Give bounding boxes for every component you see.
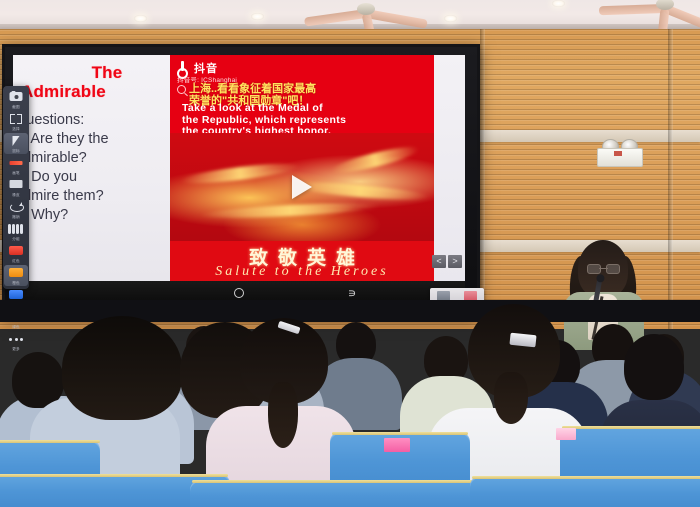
gold-streak <box>330 142 421 177</box>
pen-icon <box>10 161 23 165</box>
audience-area <box>0 300 700 507</box>
toolbar-label: 选择 <box>4 127 28 132</box>
toolbar-label: 撤销 <box>4 215 28 220</box>
camera-icon <box>10 92 23 101</box>
slide-right-margin <box>434 55 465 281</box>
orange-swatch-icon <box>9 268 23 277</box>
fan-blade <box>599 4 665 15</box>
toolbar-label: 分组 <box>4 237 28 242</box>
student-head <box>62 316 182 420</box>
questions-heading: Questions: <box>15 111 171 130</box>
ceiling-fan <box>296 0 436 26</box>
presentation-slide[interactable]: The Admirable Questions: 1, Are they the… <box>13 55 170 281</box>
toolbar-label: 橡皮 <box>4 193 28 198</box>
toolbar-item-eraser[interactable]: 橡皮 <box>4 177 28 198</box>
search-icon <box>177 85 186 94</box>
blue-swatch-icon <box>9 290 23 299</box>
smart-board[interactable]: The Admirable Questions: 1, Are they the… <box>2 44 480 316</box>
red-swatch-icon <box>9 246 23 255</box>
student-head <box>624 334 684 400</box>
board-screen[interactable]: The Admirable Questions: 1, Are they the… <box>13 55 465 281</box>
wall-seam <box>668 29 673 329</box>
downlight <box>444 15 457 22</box>
slide-questions: Questions: 1, Are they the admirable? 2,… <box>15 111 171 225</box>
salute-banner: 致敬英雄 Salute to the Heroes <box>170 241 434 281</box>
page-nav[interactable]: < > <box>432 255 462 268</box>
pink-notebook <box>384 438 410 452</box>
toolbar-item-frame-select[interactable]: 选择 <box>4 111 28 132</box>
people-icon <box>8 224 24 234</box>
desk-trim <box>332 432 468 435</box>
caption-en-line1: Take a look at the Medal of <box>182 103 430 115</box>
toolbar-label: 红色 <box>4 259 28 264</box>
toolbar-item-red[interactable]: 红色 <box>4 243 28 264</box>
slide-title-line2: Admirable <box>21 82 171 101</box>
desk-trim <box>192 480 488 483</box>
music-note-icon <box>177 61 190 75</box>
desk-trim <box>0 440 100 443</box>
board-toolbar[interactable]: 截图 选择 鼠标 画笔 橡皮 撤销 分组 红色 <box>3 86 29 289</box>
gold-streak <box>200 200 380 220</box>
question-line: admire them? <box>15 187 171 206</box>
toolbar-item-cursor[interactable]: 鼠标 <box>4 133 28 154</box>
fan-hub <box>357 3 375 15</box>
play-button-icon[interactable] <box>292 175 312 199</box>
toolbar-label: 画笔 <box>4 171 28 176</box>
toolbar-label: 橙色 <box>4 281 28 286</box>
pink-notebook <box>556 428 576 440</box>
desk-trim <box>472 476 700 479</box>
desk <box>190 480 490 507</box>
caption-cn-line1: 上海..看看象征着国家最高 <box>189 83 316 95</box>
hair-clip <box>509 333 536 348</box>
back-arrow-icon[interactable]: ∍ <box>348 287 357 299</box>
toolbar-label: 截图 <box>4 105 28 110</box>
downlight <box>251 13 264 20</box>
home-circle-icon[interactable] <box>234 288 244 298</box>
wall-seam <box>480 29 485 329</box>
toolbar-item-pen[interactable]: 画笔 <box>4 155 28 176</box>
toolbar-item-orange[interactable]: 橙色 <box>4 265 28 286</box>
gold-streak <box>180 160 301 188</box>
prev-page-button[interactable]: < <box>432 255 446 268</box>
desk-trim <box>0 474 228 477</box>
student-ponytail <box>494 372 528 424</box>
toolbar-item-camera[interactable]: 截图 <box>4 89 28 110</box>
video-caption-header: 抖音 抖音号: ICShanghai 上海..看看象征着国家最高 荣誉的"共和国… <box>170 55 434 133</box>
glasses-icon <box>587 264 620 273</box>
toolbar-item-undo[interactable]: 撤销 <box>4 199 28 220</box>
downlight <box>134 15 147 22</box>
desk-trim <box>562 426 700 429</box>
douyin-video-player[interactable]: 抖音 抖音号: ICShanghai 上海..看看象征着国家最高 荣誉的"共和国… <box>170 55 434 281</box>
frame-select-icon <box>10 114 22 124</box>
question-line: admirable? <box>15 149 171 168</box>
question-line: 3, Why? <box>15 206 171 225</box>
toolbar-label: 鼠标 <box>4 149 28 154</box>
toolbar-item-people[interactable]: 分组 <box>4 221 28 242</box>
question-line: 2, Do you <box>15 168 171 187</box>
eraser-icon <box>10 180 23 188</box>
ceiling-fan <box>590 0 700 24</box>
slide-title: The Admirable <box>21 63 171 101</box>
classroom-screenshot: The Admirable Questions: 1, Are they the… <box>0 0 700 507</box>
question-line: 1, Are they the <box>15 130 171 149</box>
fan-blade <box>365 9 428 29</box>
desk <box>470 476 700 507</box>
downlight <box>552 0 565 7</box>
emergency-light-icon <box>597 139 641 165</box>
slide-title-line1: The <box>21 63 171 82</box>
cursor-icon <box>13 136 20 146</box>
undo-icon <box>10 202 22 211</box>
medal-image <box>170 133 434 241</box>
salute-banner-en: Salute to the Heroes <box>170 264 434 280</box>
next-page-button[interactable]: > <box>448 255 462 268</box>
student-ponytail <box>268 382 298 448</box>
emergency-light-mark <box>614 151 622 156</box>
